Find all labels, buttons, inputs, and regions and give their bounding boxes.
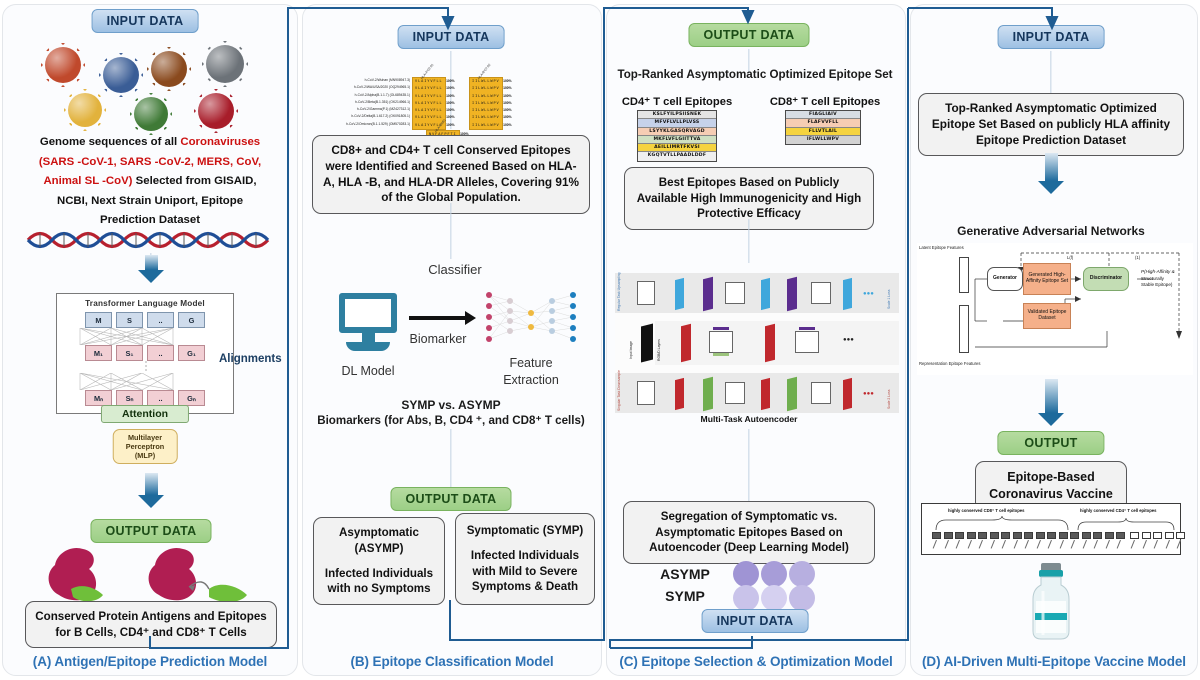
panel-c-epitope-selection-optimization: OUTPUT DATA Top-Ranked Asymptomatic Opti… [606,4,906,676]
panel-c-connector-2 [748,219,749,263]
genome-description: Genome sequences of all Coronaviruses (S… [19,133,281,231]
token-m: M [85,312,112,328]
gan-loss-label-2: (1) [1135,255,1140,260]
multi-task-autoencoder-figure: Regular Task Upsampling RGB/D Layers Sin… [615,273,899,413]
alignment-label-0: h-CoV-2/Wuhan (MN908947.3) [346,77,410,84]
symptomatic-box: Symptomatic (SYMP) Infected Individuals … [455,513,595,605]
alignment-label-3: h-CoV-2/Beta(B.1.351) (OK214966.1) [346,99,410,106]
transformer-dots [64,361,226,373]
panel-c-title: (C) Epitope Selection & Optimization Mod… [607,654,905,669]
cd4-epitope-1: MFVFLVLLPLVSS [638,119,716,127]
construct-epitope-segment [1153,532,1162,539]
cd4-epitope-table: KSLFYILPSIISNEK MFVFLVLLPLVSS LSYYKLGASQ… [637,110,717,162]
construct-epitope-segment [1070,532,1079,539]
construct-epitope-segment [1130,532,1139,539]
panel-c-output-pill: OUTPUT DATA [688,23,809,47]
construct-linker-tick [1165,540,1169,549]
construct-linker-tick [1082,540,1086,549]
align-seq-0-1: VLAIYVFLL [413,85,445,92]
ae-input-label: Input Image [629,325,633,359]
alignment-pct-0: 100% 100% 100% 100% 100% 100% 100% [445,78,455,129]
asymptomatic-box: Asymptomatic (ASYMP) Infected Individual… [313,517,445,605]
cd4-epitope-2: LSYYKLGASQRVAGD [638,128,716,136]
alignments-label: Alignments [219,353,282,365]
alignment-label-5: h-CoV-2/Delta(B.1.617.2) (OK091805.1) [346,113,410,120]
panel-a-output-pill: OUTPUT DATA [90,519,211,543]
panel-a-title: (A) Antigen/Epitope Prediction Model [3,654,297,669]
construct-epitope-segment [1036,532,1045,539]
construct-epitope-segment [978,532,987,539]
mlp-line1: Multilayer [126,433,165,442]
token-gn: Gₙ [178,390,205,406]
cd8-epitope-0: FIAGLIAIV [786,111,860,119]
biomarkers-caption: SYMP vs. ASYMP Biomarkers (for Abs, B, C… [317,397,585,429]
ae-mid-band-label: RGB/D Layers [657,323,661,361]
construct-linker-tick [1025,540,1029,549]
biomarker-label: Biomarker [410,331,467,348]
alignment-pct-1: 100% 100% 100% 100% 100% 100% 100% [502,78,512,129]
transformer-row-3: Mₙ Sₙ .. Gₙ [64,390,226,406]
construct-linker-tick [1177,540,1181,549]
cd4-epitopes-heading: CD4⁺ T cell Epitopes [622,95,732,108]
symp-line1: Symptomatic (SYMP) [464,523,586,539]
ae-middle-band [655,321,899,365]
transformer-mesh-2 [64,373,226,390]
token-ellipsis: .. [147,312,174,328]
ae-top-band-label: Regular Task Upsampling [617,277,621,311]
ae-scale2-label: Scale 2 Loss [887,377,891,409]
token-s1: S₁ [116,345,143,361]
cd8-epitope-2: FLLVTLAIL [786,128,860,136]
construct-linker-tick [1071,540,1075,549]
autoencoder-title: Multi-Task Autoencoder [701,414,798,424]
panel-b-epitope-classification: INPUT DATA h-CoV-2/Wuhan (MN908947.3) h-… [302,4,602,676]
feature-extraction-network [485,289,577,351]
cd8-epitopes-heading: CD8⁺ T cell Epitopes [770,95,880,108]
gan-prob-line2: Structurally [1141,276,1193,283]
panel-d-top-box: Top-Ranked Asymptomatic Optimized Epitop… [918,93,1184,156]
align-seq-0-3: VLAIYVFLL [413,100,445,107]
construct-linker-tick [1094,540,1098,549]
gan-discriminator-node: Discriminator [1083,267,1129,291]
construct-epitope-segment [1024,532,1033,539]
vaccine-vial-icon [1023,561,1079,648]
gan-probability-note: P(High-Affinity & Structurally Stable Ep… [1141,269,1193,289]
panel-d-title: (D) AI-Driven Multi-Epitope Vaccine Mode… [911,654,1197,669]
construct-linker-tick [1013,540,1017,549]
panel-b-connector-2 [450,203,451,259]
feature-line1: Feature [503,355,559,372]
mlp-line3: (MLP) [126,451,165,460]
asymp-line3: Infected Individuals [322,566,436,582]
gan-loss-label-1: L(f) [1067,255,1073,260]
biomarkers-line2: Biomarkers (for Abs, B, CD4 ⁺, and CD8⁺ … [317,413,585,429]
construct-epitope-segment [1013,532,1022,539]
align-seq-1-3: IILWLLWPV [470,100,502,107]
construct-epitope-segment [1105,532,1114,539]
panel-b-output-pill: OUTPUT DATA [390,487,511,511]
symp-line3: with Mild to Severe [464,564,586,580]
genome-line4: NCBI, Next Strain Uniport, Epitope [19,192,281,212]
token-ellipsis-1: .. [147,345,174,361]
construct-right-label: highly conserved CD4⁺ T cell epitopes [1080,508,1156,513]
asymp-marker-label: ASYMP [660,565,710,584]
construct-epitope-segment [955,532,964,539]
cd8-epitope-table: FIAGLIAIV FLAFVVFLL FLLVTLAIL IFLWLLWPV [785,110,861,145]
construct-epitope-segment [1093,532,1102,539]
panel-a-arrow-1 [138,255,164,283]
gan-heading: Generative Adversarial Networks [957,223,1145,239]
cd8-epitope-3: IFLWLLWPV [786,136,860,144]
gan-generator-node: Generator [987,267,1023,291]
cd4-epitope-0: KSLFYILPSIISNEK [638,111,716,119]
symp-line2: Infected Individuals [464,548,586,564]
diagram-stage: INPUT DATA Genome sequences of all Coron… [0,0,1200,680]
gan-prob-line1: P(High-Affinity & [1141,269,1193,276]
genome-line1-pre: Genome sequences of all [40,136,181,148]
gan-representation-label: Representation Epitope Features [919,361,980,366]
panel-b-title: (B) Epitope Classification Model [303,654,601,669]
align-seq-0-2: VLAIYVFLL [413,93,445,100]
feature-extraction-label: Feature Extraction [503,355,559,389]
top-ranked-heading: Top-Ranked Asymptomatic Optimized Epitop… [617,67,892,83]
panel-a-antigen-epitope-prediction: INPUT DATA Genome sequences of all Coron… [2,4,298,676]
construct-linker-tick [956,540,960,549]
alignment-label-4: h-CoV-2/Gamma(P.1) (MZ427312.1) [346,106,410,113]
align-seq-1-4: IILWLLWPV [470,107,502,114]
panel-a-arrow-2 [138,473,164,508]
construct-linker-tick [933,540,937,549]
token-g: G [178,312,205,328]
construct-epitope-segment [944,532,953,539]
construct-linker-tick [1048,540,1052,549]
genome-line3-highlight: Animal SL -CoV) [43,175,132,187]
token-sn: Sₙ [116,390,143,406]
construct-epitope-segment [1116,532,1125,539]
panel-a-result-box: Conserved Protein Antigens and Epitopes … [25,601,277,648]
alignment-label-1: h-CoV-2/WA/USA/2020 (OQ294965.1) [346,84,410,91]
result-line1: Conserved Protein Antigens and Epitopes [34,609,268,625]
gan-latent-bar [959,257,969,293]
construct-epitope-segment [932,532,941,539]
feature-line2: Extraction [503,372,559,389]
construct-linker-tick [1002,540,1006,549]
gan-validated-dataset-node: Validated Epitope Dataset [1023,303,1071,329]
construct-epitope-segment [967,532,976,539]
dl-model-label: DL Model [341,363,394,380]
biomarker-arrow [409,311,476,325]
gan-prob-line3: Stable Epitope) [1141,282,1193,289]
result-line2: for B Cells, CD4⁺ and CD8⁺ T Cells [34,625,268,641]
panel-c-input-pill: INPUT DATA [702,609,809,633]
align-seq-0-0: VLAIYVFLL [413,78,445,85]
construct-linker-tick [1154,540,1158,549]
construct-linker-tick [1142,540,1146,549]
construct-left-label: highly conserved CD8⁺ T cell epitopes [948,508,1024,513]
ae-bottom-band-label: Singular Task Downsample [617,377,621,411]
alignment-row-labels: h-CoV-2/Wuhan (MN908947.3) h-CoV-2/WA/US… [346,77,412,128]
construct-epitope-segment [990,532,999,539]
construct-linker-tick [1105,540,1109,549]
alignment-label-6: h-CoV-2/Omicron(B.1.1.529) (OM570283.1) [346,121,410,128]
token-ellipsis-n: .. [147,390,174,406]
genome-line2: (SARS -CoV-1, SARS -CoV-2, MERS, CoV, [19,153,281,173]
construct-epitope-segment [1082,532,1091,539]
token-mn: Mₙ [85,390,112,406]
construct-linker-tick [967,540,971,549]
gan-architecture-figure: Latent Epitope Features Representation E… [917,243,1193,375]
construct-epitope-segment [1142,532,1151,539]
gan-representation-bar [959,305,969,353]
construct-linker-tick [944,540,948,549]
align-seq-0-4: VLAIYVFLL [413,107,445,114]
panel-b-connector-3 [450,429,451,487]
token-s: S [116,312,143,328]
construct-linker-tick [990,540,994,549]
token-g1: G₁ [178,345,205,361]
panel-b-input-pill: INPUT DATA [398,25,505,49]
genome-line3-post: Selected from GISAID, [132,175,256,187]
panel-a-input-pill: INPUT DATA [92,9,199,33]
construct-linker-tick [979,540,983,549]
panel-d-output-pill: OUTPUT [997,431,1104,455]
construct-linker-tick [1059,540,1063,549]
panel-d-arrow-2 [1038,379,1064,426]
gan-generated-set-node: Generated High-Affinity Epitope Set [1023,263,1071,295]
ae-scale1-label: Scale 1 Loss [887,277,891,309]
panel-d-arrow-1 [1038,153,1064,194]
construct-linker-tick [1131,540,1135,549]
align-seq-1-6: IILWLLWPV [470,122,502,129]
asymp-line1: Asymptomatic [322,525,436,541]
construct-linker-tick [1036,540,1040,549]
symp-line4: Symptoms & Death [464,579,586,595]
ae-top-band [615,273,899,313]
transformer-row-1: M S .. G [64,312,226,328]
vaccine-line1: Epitope-Based [984,469,1118,486]
gan-latent-label: Latent Epitope Features [919,245,964,250]
transformer-title: Transformer Language Model [64,299,226,308]
alignment-block-1: HLA-B*07:02 IILWLLWPV IILWLLWPV IILWLLWP… [469,77,503,130]
mlp-block: Multilayer Perceptron (MLP) [113,429,178,464]
align-seq-1-0: IILWLLWPV [470,78,502,85]
dl-model-monitor-icon [339,293,397,351]
panel-c-connector-3 [748,429,749,501]
construct-epitope-segment [1001,532,1010,539]
construct-linker-tick [1117,540,1121,549]
mlp-line2: Perceptron [126,442,165,451]
token-m1: M₁ [85,345,112,361]
alignment-label-2: h-CoV-2/Alpha(B.1.1.7) (OL689435.1) [346,92,410,99]
transformer-row-2: M₁ S₁ .. G₁ [64,345,226,361]
cd4-epitope-4: AEILLIMRTFKVSI [638,144,716,152]
construct-epitope-segment [1165,532,1174,539]
transformer-mesh-1 [64,328,226,345]
asymp-line4: with no Symptoms [322,581,436,597]
panel-d-connector-1 [1050,51,1051,95]
genome-line1-highlight: Coronaviruses [180,136,260,148]
align-seq-1-2: IILWLLWPV [470,93,502,100]
transformer-language-model: Transformer Language Model M S .. G [56,293,234,414]
ae-bottom-band [615,373,899,413]
cd4-epitope-3: MKFLVFLGIITTVA [638,136,716,144]
align-seq-1-5: IILWLLWPV [470,114,502,121]
segregation-box: Segregation of Symptomatic vs. Asymptoma… [623,501,875,564]
construct-epitope-segment [1176,532,1185,539]
align-seq-1-1: IILWLLWPV [470,85,502,92]
cd8-epitope-1: FLAFVVFLL [786,119,860,127]
construct-epitope-segment [1047,532,1056,539]
panel-d-input-pill: INPUT DATA [998,25,1105,49]
vaccine-line2: Coronavirus Vaccine [984,486,1118,503]
panel-d-ai-driven-vaccine: INPUT DATA Top-Ranked Asymptomatic Optim… [910,4,1198,676]
attention-block: Attention [101,405,189,423]
construct-epitope-segment [1059,532,1068,539]
classifier-label: Classifier [428,261,481,279]
asymp-line2: (ASYMP) [322,541,436,557]
symp-marker-label: SYMP [665,587,705,606]
biomarkers-line1: SYMP vs. ASYMP [317,397,585,413]
cd4-epitope-5: KGQTVTLLPAADLDDF [638,152,716,160]
vaccine-construct-figure: highly conserved CD8⁺ T cell epitopes hi… [921,503,1181,555]
